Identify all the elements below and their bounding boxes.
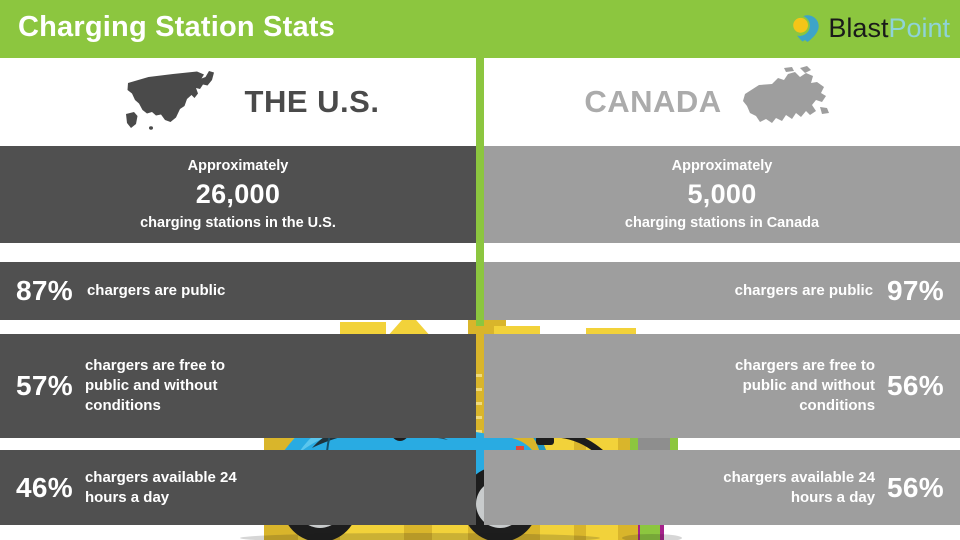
column-title-us: THE U.S. <box>245 84 380 120</box>
stat-bar-us-24h: 46% chargers available 24 hours a day <box>0 450 476 525</box>
stat-bar-canada-public: chargers are public 97% <box>484 262 960 320</box>
summary-value-canada: 5,000 <box>484 178 960 212</box>
summary-bar-us: Approximately 26,000 charging stations i… <box>0 146 476 243</box>
column-title-canada: CANADA <box>584 84 721 120</box>
stat-label-canada-public: chargers are public <box>735 281 873 301</box>
logo-text-primary: Blast <box>828 13 888 43</box>
logo-text-secondary: Point <box>888 13 950 43</box>
summary-value-us: 26,000 <box>0 178 476 212</box>
stat-label-canada-24h: chargers available 24 hours a day <box>705 468 875 508</box>
stat-label-canada-free: chargers are free to public and without … <box>700 356 875 416</box>
center-divider <box>476 58 484 326</box>
summary-approx-label-canada: Approximately <box>484 157 960 175</box>
summary-bar-canada: Approximately 5,000 charging stations in… <box>484 146 960 243</box>
stat-percent-us-free: 57% <box>16 370 73 402</box>
stat-bar-us-public: 87% chargers are public <box>0 262 476 320</box>
infographic-page: Charging Station Stats BlastPoint <box>0 0 960 540</box>
stat-bar-us-free: 57% chargers are free to public and with… <box>0 334 476 438</box>
stat-label-us-free: chargers are free to public and without … <box>85 356 260 416</box>
stat-label-us-public: chargers are public <box>87 281 225 301</box>
stat-percent-canada-24h: 56% <box>887 472 944 504</box>
summary-subline-us: charging stations in the U.S. <box>0 214 476 232</box>
blastpoint-pin-logo-icon <box>791 13 821 43</box>
column-header-us: THE U.S. <box>0 58 480 146</box>
logo-wordmark: BlastPoint <box>828 13 950 43</box>
summary-approx-label-us: Approximately <box>0 157 476 175</box>
canada-map-icon <box>736 65 836 140</box>
stat-label-us-24h: chargers available 24 hours a day <box>85 468 255 508</box>
summary-subline-canada: charging stations in Canada <box>484 214 960 232</box>
stat-percent-us-public: 87% <box>16 275 73 307</box>
page-title: Charging Station Stats <box>18 11 335 44</box>
brand-logo[interactable]: BlastPoint <box>791 10 950 46</box>
stat-percent-us-24h: 46% <box>16 472 73 504</box>
column-header-canada: CANADA <box>480 58 960 146</box>
stat-percent-canada-free: 56% <box>887 370 944 402</box>
stat-bar-canada-free: chargers are free to public and without … <box>484 334 960 438</box>
stat-bar-canada-24h: chargers available 24 hours a day 56% <box>484 450 960 525</box>
us-map-icon <box>121 66 231 139</box>
header-bar: Charging Station Stats BlastPoint <box>0 0 960 58</box>
stat-percent-canada-public: 97% <box>887 275 944 307</box>
